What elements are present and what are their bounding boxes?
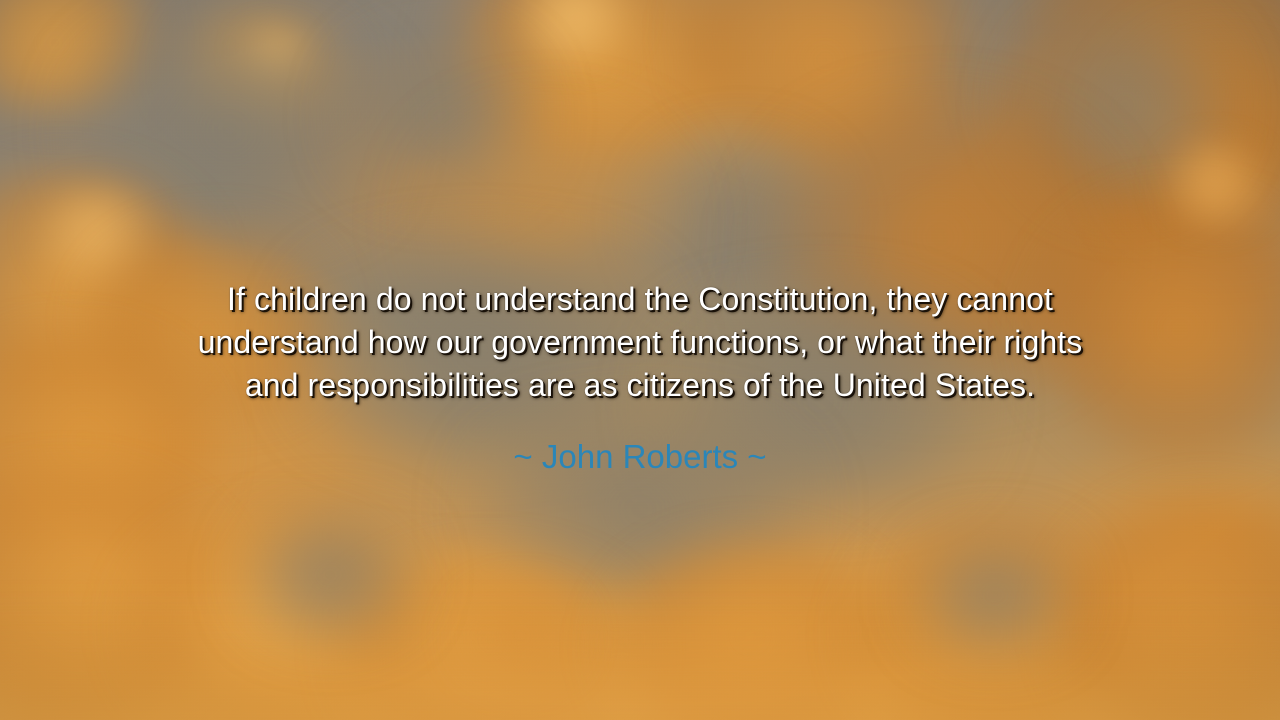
quote-image-canvas: If children do not understand the Consti… xyxy=(0,0,1280,720)
quote-line-1: If children do not understand the Consti… xyxy=(50,278,1230,321)
quote-line-2: understand how our government functions,… xyxy=(50,321,1230,364)
quote-text: If children do not understand the Consti… xyxy=(50,278,1230,407)
quote-line-3: and responsibilities are as citizens of … xyxy=(50,364,1230,407)
quote-attribution: ~ John Roberts ~ xyxy=(50,437,1230,477)
text-content: If children do not understand the Consti… xyxy=(0,0,1280,720)
